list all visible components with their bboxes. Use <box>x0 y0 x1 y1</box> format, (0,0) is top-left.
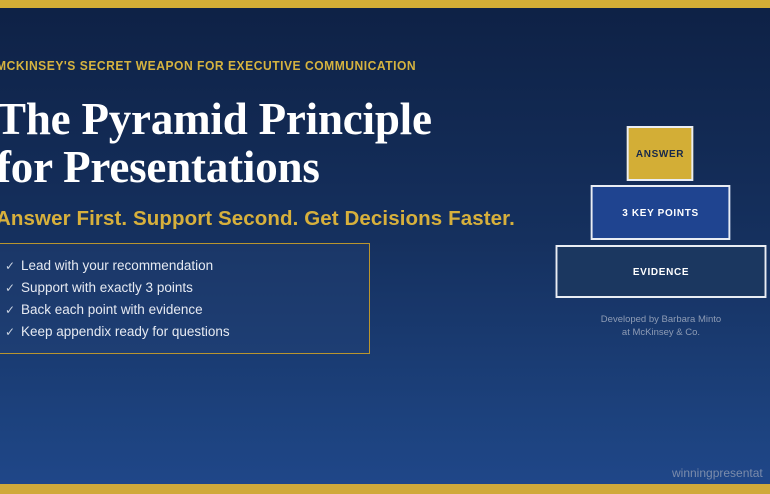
list-item-label: Keep appendix ready for questions <box>21 324 230 339</box>
top-accent-bar <box>0 0 770 8</box>
page-title-line-1: The Pyramid Principle <box>0 95 466 143</box>
check-icon: ✓ <box>5 326 21 338</box>
list-item: ✓ Back each point with evidence <box>5 302 369 324</box>
pyramid-tier-key-points: 3 KEY POINTS <box>591 185 731 240</box>
pyramid-tier-evidence: EVIDENCE <box>556 245 767 298</box>
headline-block: MCKINSEY'S SECRET WEAPON FOR EXECUTIVE C… <box>0 58 466 231</box>
list-item-label: Back each point with evidence <box>21 302 203 317</box>
page-title-line-2: for Presentations <box>0 143 466 191</box>
list-item-label: Support with exactly 3 points <box>21 280 193 295</box>
bottom-accent-bar <box>0 484 770 494</box>
attribution-line-1: Developed by Barbara Minto <box>550 314 770 327</box>
list-item: ✓ Keep appendix ready for questions <box>5 324 369 346</box>
page-subtitle: Answer First. Support Second. Get Decisi… <box>0 207 466 231</box>
list-item-label: Lead with your recommendation <box>21 258 213 273</box>
pyramid-tier-answer: ANSWER <box>627 126 694 181</box>
slide-canvas: MCKINSEY'S SECRET WEAPON FOR EXECUTIVE C… <box>0 0 770 494</box>
checklist-panel: ✓ Lead with your recommendation ✓ Suppor… <box>0 243 370 354</box>
attribution-line-2: at McKinsey & Co. <box>550 327 770 340</box>
list-item: ✓ Support with exactly 3 points <box>5 280 369 302</box>
eyebrow-label: MCKINSEY'S SECRET WEAPON FOR EXECUTIVE C… <box>0 58 433 73</box>
check-icon: ✓ <box>5 260 21 272</box>
check-icon: ✓ <box>5 304 21 316</box>
check-icon: ✓ <box>5 282 21 294</box>
list-item: ✓ Lead with your recommendation <box>5 258 369 280</box>
watermark-label: winningpresentat <box>672 466 763 480</box>
attribution-block: Developed by Barbara Minto at McKinsey &… <box>550 314 770 339</box>
